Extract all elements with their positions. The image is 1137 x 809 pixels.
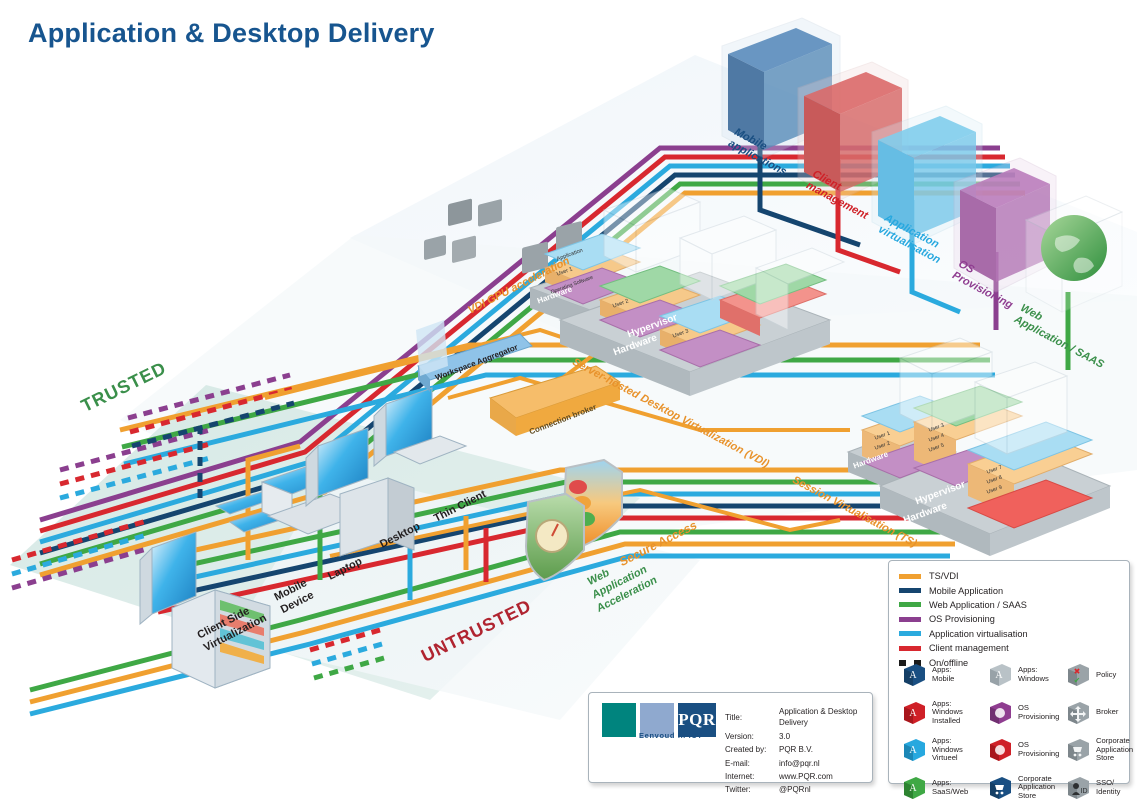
legend-swatch-web-application-saas <box>899 602 921 607</box>
title-block-row-twitter: Twitter: @PQRnl <box>725 784 870 795</box>
sso-identity-icon: ID <box>1065 775 1091 801</box>
legend-icon-row-sso-identity: ID SSO/ Identity <box>1065 772 1129 804</box>
broker-icon <box>1065 700 1091 726</box>
title-block-key-internet: Internet: <box>725 771 777 782</box>
legend-icon-label-apps-windows-installed: Apps: Windows Installed <box>932 700 981 726</box>
legend-row-ts-vdi: TS/VDI <box>899 569 1129 583</box>
legend-icon-row-apps-windows-installed: A Apps: Windows Installed <box>901 697 981 729</box>
apps-windows-installed-icon: A <box>901 700 927 726</box>
legend-icon-column-1: A Apps: Mobile A Apps: Windows Installed… <box>901 659 981 809</box>
title-block-value-created-by: PQR B.V. <box>779 744 870 755</box>
apps-windows-icon: A <box>987 662 1013 688</box>
os-provisioning-red-icon <box>987 737 1013 763</box>
legend-icon-row-apps-windows-virtueel: A Apps: Windows Virtueel <box>901 734 981 766</box>
os-provisioning-purple-icon <box>987 700 1013 726</box>
legend-line-list: TS/VDI Mobile Application Web Applicatio… <box>889 561 1129 672</box>
legend-icon-row-apps-windows: A Apps: Windows <box>987 659 1063 691</box>
legend-row-web-application-saas: Web Application / SAAS <box>899 598 1129 612</box>
svg-text:A: A <box>995 670 1003 681</box>
svg-text:A: A <box>909 670 917 681</box>
legend-icon-row-apps-mobile: A Apps: Mobile <box>901 659 981 691</box>
title-block-key-created-by: Created by: <box>725 744 777 755</box>
legend-icon-label-apps-windows-virtueel: Apps: Windows Virtueel <box>932 737 981 763</box>
legend-label-mobile-application: Mobile Application <box>929 586 1003 596</box>
legend-icon-label-os-provisioning-purple: OS Provisioning <box>1018 704 1063 721</box>
legend-row-os-provisioning: OS Provisioning <box>899 612 1129 626</box>
title-block: PQR Eenvoud in ICT Title: Application & … <box>588 692 873 783</box>
title-block-row-title: Title: Application & Desktop Delivery <box>725 706 870 729</box>
logo-tagline: Eenvoud in ICT <box>639 731 703 740</box>
title-block-row-created-by: Created by: PQR B.V. <box>725 744 870 755</box>
logo-swatch-teal <box>602 703 636 737</box>
legend-icon-row-apps-saas-web: A Apps: SaaS/Web <box>901 772 981 804</box>
legend-icon-label-broker: Broker <box>1096 708 1118 717</box>
title-block-value-email: info@pqr.nl <box>779 758 870 769</box>
apps-mobile-icon: A <box>901 662 927 688</box>
legend-row-client-management: Client management <box>899 641 1129 655</box>
legend-icon-column-3: ✖✔ Policy Broker Corporate Application S… <box>1065 659 1129 809</box>
legend-icon-row-policy: ✖✔ Policy <box>1065 659 1129 691</box>
policy-icon: ✖✔ <box>1065 662 1091 688</box>
apps-saas-web-icon: A <box>901 775 927 801</box>
legend-swatch-application-virtualisation <box>899 631 921 636</box>
legend-swatch-client-management <box>899 646 921 651</box>
legend-icon-label-policy: Policy <box>1096 671 1116 680</box>
apps-windows-virtueel-icon: A <box>901 737 927 763</box>
title-block-value-internet: www.PQR.com <box>779 771 870 782</box>
svg-text:✔: ✔ <box>1074 676 1081 685</box>
legend-row-mobile-application: Mobile Application <box>899 583 1129 597</box>
legend-swatch-mobile-application <box>899 588 921 593</box>
title-block-key-twitter: Twitter: <box>725 784 777 795</box>
legend-icon-label-apps-windows: Apps: Windows <box>1018 666 1049 683</box>
svg-text:✖: ✖ <box>1074 667 1081 676</box>
title-block-value-twitter: @PQRnl <box>779 784 870 795</box>
legend-icon-label-apps-mobile: Apps: Mobile <box>932 666 954 683</box>
legend-swatch-os-provisioning <box>899 617 921 622</box>
legend-icon-label-corporate-application-store: Corporate Application Store <box>1018 775 1063 801</box>
title-block-key-email: E-mail: <box>725 758 777 769</box>
tower-web-application-saas <box>1026 0 1122 312</box>
legend-icon-row-corporate-application-store: Corporate Application Store <box>987 772 1063 804</box>
legend-icon-row-corporate-application-store-grey: Corporate Application Store <box>1065 734 1129 766</box>
legend-label-client-management: Client management <box>929 643 1009 653</box>
svg-text:A: A <box>909 708 917 719</box>
legend-icon-row-broker: Broker <box>1065 697 1129 729</box>
legend-row-application-virtualisation: Application virtualisation <box>899 627 1129 641</box>
title-block-row-email: E-mail: info@pqr.nl <box>725 758 870 769</box>
legend-icon-row-os-provisioning-red: OS Provisioning <box>987 734 1063 766</box>
legend-icon-label-apps-saas-web: Apps: SaaS/Web <box>932 779 968 796</box>
corporate-application-store-icon <box>987 775 1013 801</box>
title-block-key-version: Version: <box>725 731 777 742</box>
legend-icon-row-os-provisioning-purple: OS Provisioning <box>987 697 1063 729</box>
title-block-value-version: 3.0 <box>779 731 870 742</box>
legend-icon-label-os-provisioning-red: OS Provisioning <box>1018 741 1063 758</box>
legend-icon-label-corporate-application-store-grey: Corporate Application Store <box>1096 737 1133 763</box>
title-block-key-title: Title: <box>725 706 777 729</box>
legend-swatch-ts-vdi <box>899 574 921 579</box>
legend-label-web-application-saas: Web Application / SAAS <box>929 600 1027 610</box>
legend-icon-column-2: A Apps: Windows OS Provisioning OS Provi… <box>987 659 1063 809</box>
legend-icon-label-sso-identity: SSO/ Identity <box>1096 779 1120 796</box>
title-block-row-version: Version: 3.0 <box>725 731 870 742</box>
corporate-application-store-grey-icon <box>1065 737 1091 763</box>
legend-label-os-provisioning: OS Provisioning <box>929 614 995 624</box>
legend-label-application-virtualisation: Application virtualisation <box>929 629 1028 639</box>
svg-text:A: A <box>909 783 917 794</box>
title-block-value-title: Application & Desktop Delivery <box>779 706 870 729</box>
legend-label-ts-vdi: TS/VDI <box>929 571 959 581</box>
title-block-row-internet: Internet: www.PQR.com <box>725 771 870 782</box>
svg-text:A: A <box>909 745 917 756</box>
svg-text:ID: ID <box>1081 788 1088 795</box>
title-block-table: Title: Application & Desktop Delivery Ve… <box>723 704 872 798</box>
legend-panel: TS/VDI Mobile Application Web Applicatio… <box>888 560 1130 784</box>
